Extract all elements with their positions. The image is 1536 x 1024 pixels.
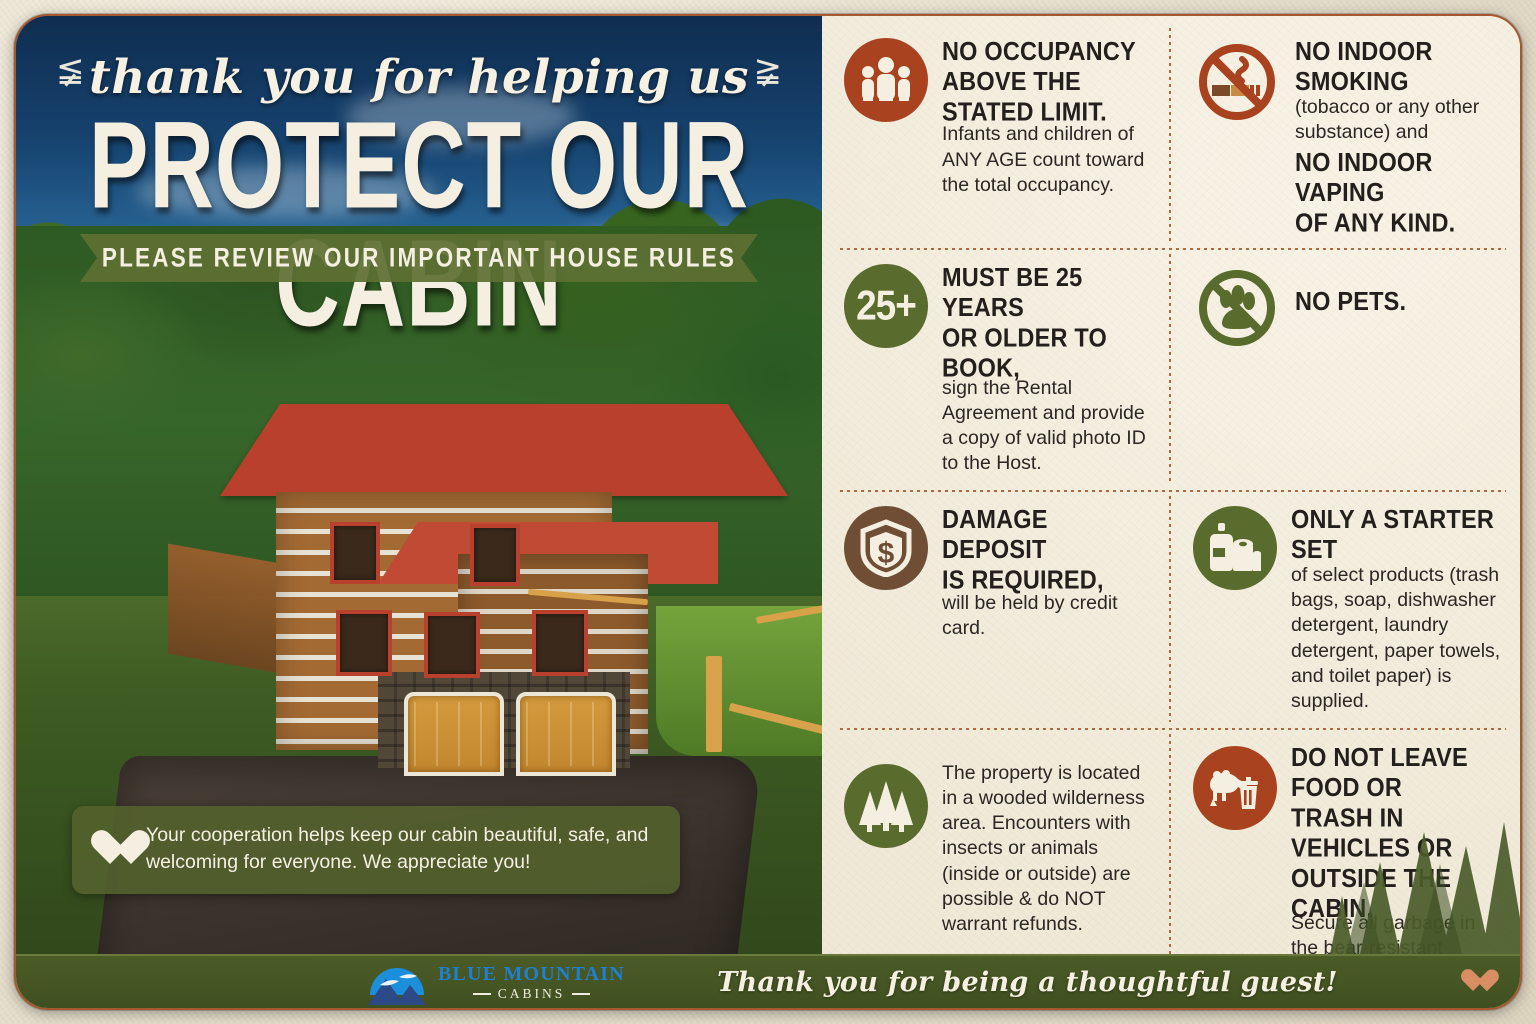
- rule-headline: NO INDOOR SMOKING: [1295, 37, 1504, 97]
- cabin-roof: [220, 404, 788, 496]
- cabin-photo-panel: ≨ thank you for helping us ≩ PROTECT OUR…: [16, 16, 822, 954]
- logo-rule-left: [473, 993, 491, 995]
- rules-row: $ DAMAGE DEPOSIT IS REQUIRED, will be he…: [822, 490, 1520, 728]
- rule-item-pets: NO PETS.: [1171, 248, 1520, 491]
- age-limit-label: 25+: [856, 282, 916, 329]
- bear-trash-icon: [1193, 746, 1277, 830]
- logo-rule-right: [572, 993, 590, 995]
- family-group-icon: [844, 38, 928, 122]
- footer-bar: BLUE MOUNTAIN CABINS Thank you for being…: [16, 954, 1520, 1008]
- rules-row: NO OCCUPANCY ABOVE THE STATED LIMIT. Inf…: [822, 22, 1520, 248]
- rule-text: DAMAGE DEPOSIT IS REQUIRED, will be held…: [942, 504, 1155, 641]
- side-lawn: [656, 606, 822, 756]
- rule-headline: DO NOT LEAVE FOOD OR TRASH IN VEHICLES O…: [1291, 743, 1504, 924]
- brand-name-line2: CABINS: [498, 987, 566, 1001]
- poster-root: ≨ thank you for helping us ≩ PROTECT OUR…: [0, 0, 1536, 1024]
- subtitle-ribbon: PLEASE REVIEW OUR IMPORTANT HOUSE RULES: [80, 234, 758, 282]
- heart-icon: [90, 831, 130, 867]
- rule-text: NO OCCUPANCY ABOVE THE STATED LIMIT. Inf…: [942, 36, 1155, 198]
- burst-left-icon: ≨: [56, 50, 85, 90]
- rule-headline: NO OCCUPANCY ABOVE THE STATED LIMIT.: [942, 37, 1155, 128]
- subtitle-ribbon-label: PLEASE REVIEW OUR IMPORTANT HOUSE RULES: [102, 243, 736, 274]
- cabin-window: [424, 612, 480, 678]
- cooperation-note-text: Your cooperation helps keep our cabin be…: [146, 822, 660, 877]
- rule-headline: NO PETS.: [1295, 287, 1504, 317]
- rules-grid: NO OCCUPANCY ABOVE THE STATED LIMIT. Inf…: [822, 22, 1520, 954]
- rule-body: will be held by credit card.: [942, 591, 1155, 641]
- garage-door: [516, 692, 616, 776]
- poster-body: ≨ thank you for helping us ≩ PROTECT OUR…: [16, 16, 1520, 954]
- brand-logo[interactable]: BLUE MOUNTAIN CABINS: [366, 959, 625, 1005]
- supplies-bottle-paper-icon: [1193, 506, 1277, 590]
- rule-item-age-limit: 25+ MUST BE 25 YEARS OR OLDER TO BOOK, s…: [822, 248, 1171, 491]
- cooperation-note: Your cooperation helps keep our cabin be…: [72, 806, 680, 894]
- rule-body: (tobacco or any other substance) and: [1295, 95, 1504, 145]
- rule-item-deposit: $ DAMAGE DEPOSIT IS REQUIRED, will be he…: [822, 490, 1171, 728]
- rule-headline: DAMAGE DEPOSIT IS REQUIRED,: [942, 505, 1155, 596]
- rule-item-smoking: NO INDOOR SMOKING (tobacco or any other …: [1171, 22, 1520, 248]
- rule-item-occupancy: NO OCCUPANCY ABOVE THE STATED LIMIT. Inf…: [822, 22, 1171, 248]
- footer-thanks-message: Thank you for being a thoughtful guest!: [595, 967, 1460, 998]
- svg-text:$: $: [878, 537, 895, 570]
- cabin-window: [470, 524, 520, 586]
- rule-headline-secondary: NO INDOOR VAPING OF ANY KIND.: [1295, 148, 1504, 239]
- rule-headline: ONLY A STARTER SET: [1291, 505, 1504, 565]
- cabin-window: [532, 610, 588, 676]
- blue-mountain-cabins-logo-icon: [366, 959, 428, 1005]
- no-smoking-icon: [1193, 38, 1281, 126]
- no-pets-paw-icon: [1193, 264, 1281, 352]
- rule-text: NO INDOOR SMOKING (tobacco or any other …: [1295, 36, 1504, 234]
- cabin-building: [228, 404, 658, 804]
- house-rules-panel: NO OCCUPANCY ABOVE THE STATED LIMIT. Inf…: [822, 16, 1520, 954]
- rules-rows: NO OCCUPANCY ABOVE THE STATED LIMIT. Inf…: [822, 22, 1520, 1010]
- age-25-plus-icon: 25+: [844, 264, 928, 348]
- rules-row: 25+ MUST BE 25 YEARS OR OLDER TO BOOK, s…: [822, 248, 1520, 491]
- page-title: PROTECT OUR CABIN: [28, 107, 810, 344]
- shield-dollar-icon: $: [844, 506, 928, 590]
- rule-body: of select products (trash bags, soap, di…: [1291, 563, 1504, 714]
- rule-body: sign the Rental Agreement and provide a …: [942, 376, 1155, 477]
- rule-text: NO PETS.: [1295, 262, 1504, 317]
- poster-card: ≨ thank you for helping us ≩ PROTECT OUR…: [14, 14, 1522, 1010]
- cabin-window: [336, 610, 392, 676]
- rule-text: ONLY A STARTER SET of select products (t…: [1291, 504, 1504, 714]
- cabin-deck: [168, 544, 286, 675]
- fence-post: [706, 656, 722, 752]
- rule-text: The property is located in a wooded wild…: [942, 742, 1155, 937]
- rule-item-starter-set: ONLY A STARTER SET of select products (t…: [1171, 490, 1520, 728]
- cabin-window: [330, 522, 380, 584]
- pine-trees-icon: [844, 764, 928, 848]
- rule-body: Infants and children of ANY AGE count to…: [942, 122, 1155, 197]
- garage-door: [404, 692, 504, 776]
- rule-body: The property is located in a wooded wild…: [942, 761, 1155, 937]
- heart-icon: [1460, 970, 1486, 994]
- burst-right-icon: ≩: [753, 50, 782, 90]
- rule-text: MUST BE 25 YEARS OR OLDER TO BOOK, sign …: [942, 262, 1155, 477]
- rule-headline: MUST BE 25 YEARS OR OLDER TO BOOK,: [942, 263, 1155, 384]
